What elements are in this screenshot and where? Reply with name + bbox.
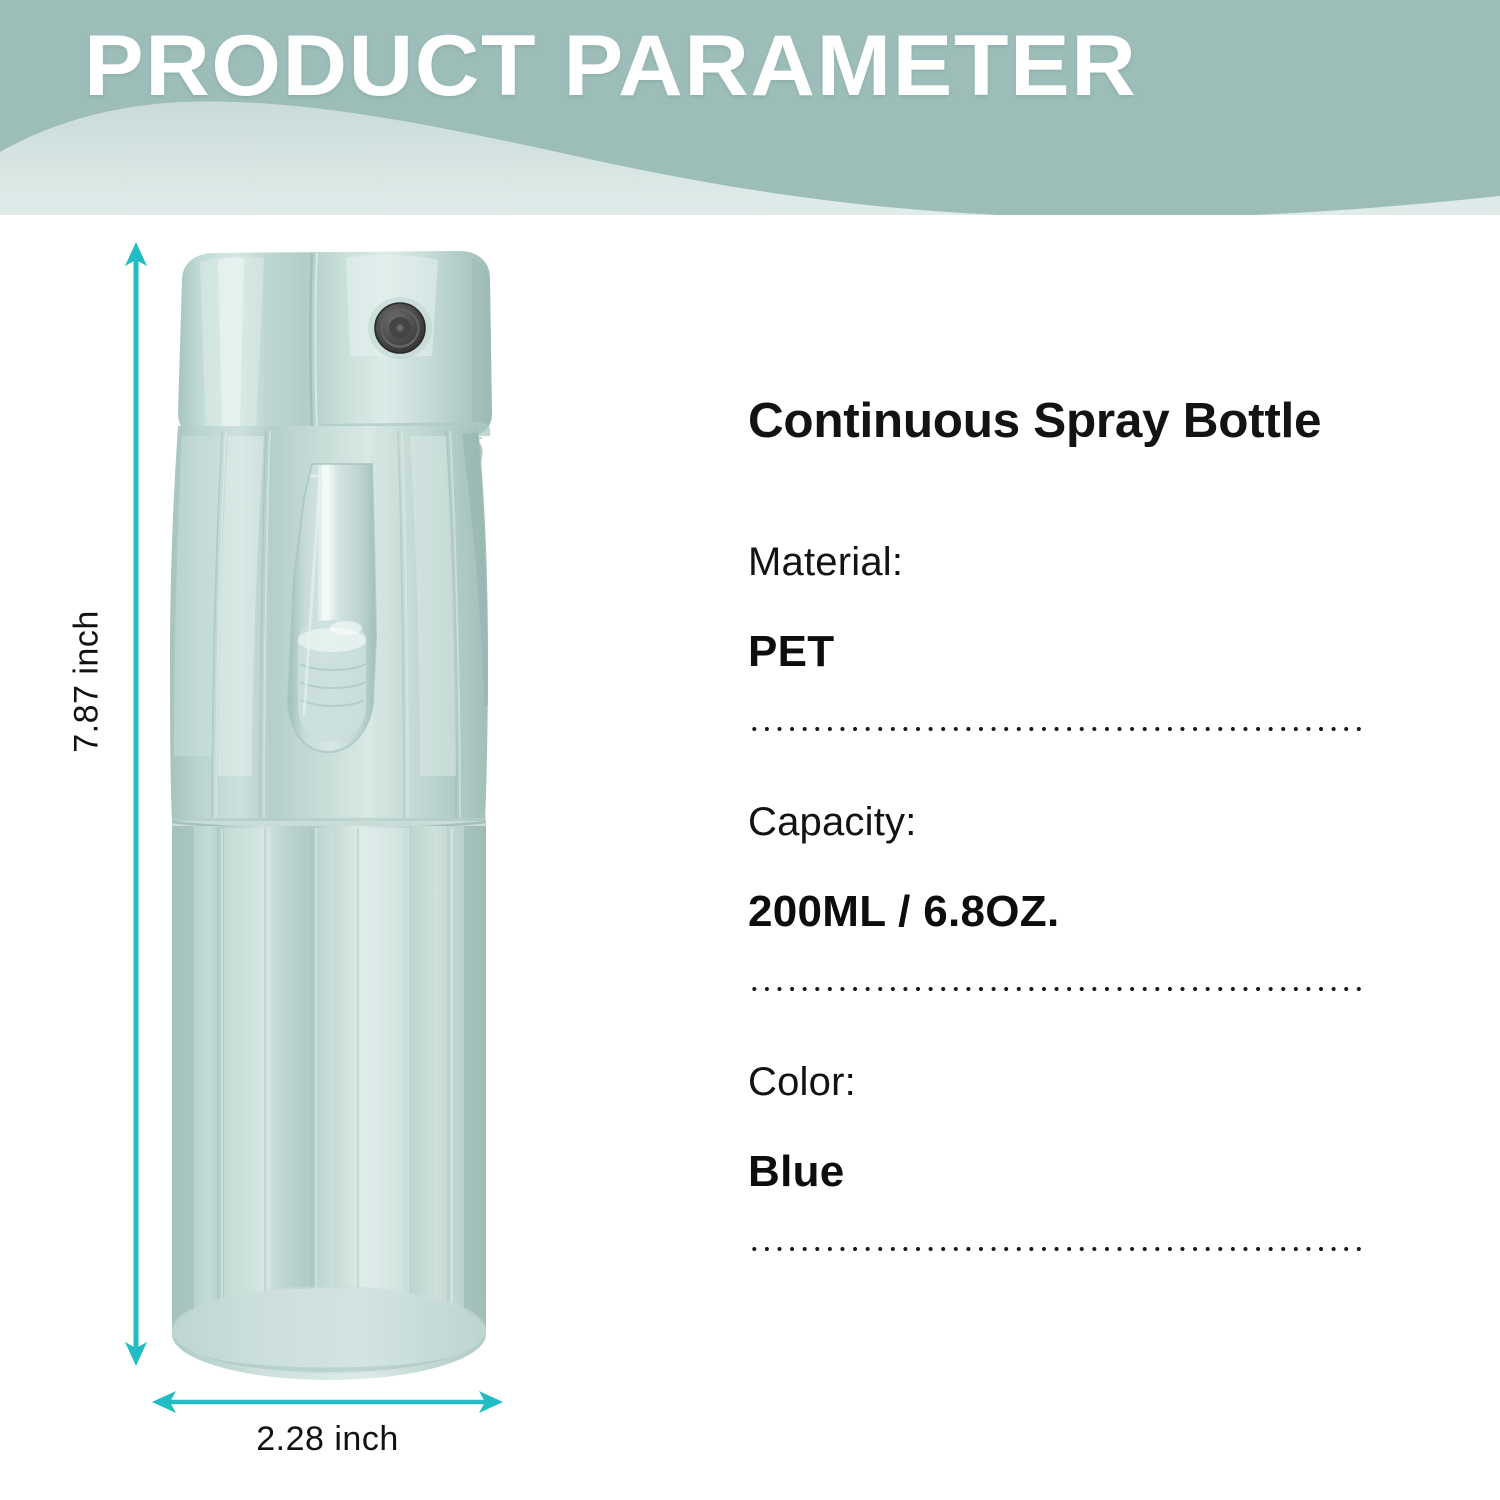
- spacer: [748, 678, 1388, 726]
- spacer: [748, 732, 1388, 798]
- spec-label-material: Material:: [748, 538, 1388, 586]
- width-dimension-arrow: [150, 1382, 505, 1422]
- header-banner: PRODUCT PARAMETER: [0, 0, 1500, 215]
- height-dimension-arrow: [112, 240, 160, 1368]
- spec-item-capacity: Capacity: 200ML / 6.8OZ.: [748, 798, 1388, 992]
- product-name: Continuous Spray Bottle: [748, 392, 1394, 450]
- width-dimension-label: 2.28 inch: [150, 1420, 505, 1459]
- spray-head: [178, 251, 492, 438]
- spec-label-capacity: Capacity:: [748, 798, 1388, 846]
- spacer: [748, 846, 1388, 886]
- page-title: PRODUCT PARAMETER: [84, 18, 1137, 114]
- spacer: [748, 1198, 1388, 1246]
- spec-label-color: Color:: [748, 1058, 1388, 1106]
- bottle-base: [172, 1286, 486, 1380]
- spacer: [748, 1106, 1388, 1146]
- spec-item-color: Color: Blue: [748, 1058, 1388, 1252]
- spacer: [748, 450, 1388, 538]
- spec-value-capacity: 200ML / 6.8OZ.: [748, 886, 1388, 938]
- spec-value-color: Blue: [748, 1146, 1388, 1198]
- height-dimension-label: 7.87 inch: [68, 567, 107, 797]
- spacer: [748, 938, 1388, 986]
- spacer: [748, 992, 1388, 1058]
- spec-value-material: PET: [748, 626, 1388, 678]
- spec-divider: [748, 1246, 1365, 1252]
- product-image-spray-bottle: [160, 236, 510, 1396]
- spec-list: Continuous Spray Bottle Material: PET Ca…: [748, 392, 1388, 1252]
- spacer: [748, 586, 1388, 626]
- nozzle-icon: [375, 303, 425, 353]
- spec-item-material: Material: PET: [748, 538, 1388, 732]
- product-parameter-infographic: PRODUCT PARAMETER: [0, 0, 1500, 1500]
